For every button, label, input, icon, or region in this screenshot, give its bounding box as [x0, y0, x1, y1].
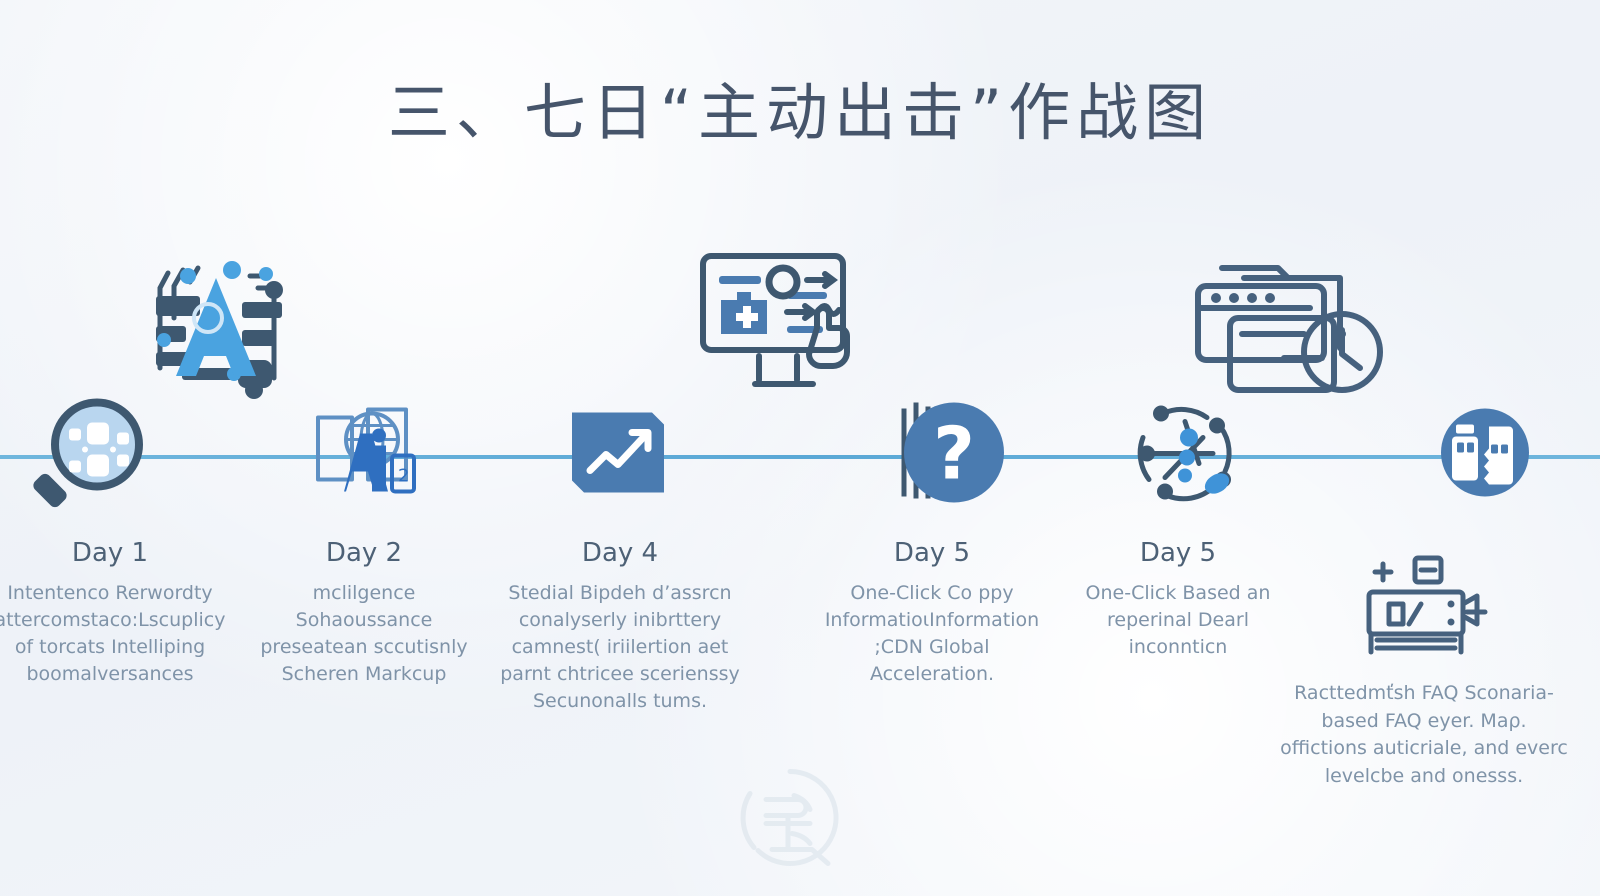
- network-node-icon[interactable]: [1125, 398, 1245, 515]
- ai-globe-icon[interactable]: 2: [310, 400, 422, 513]
- timeline-step-day4: Day 4 Stedial Bipdeh d’assrcn conalyserl…: [492, 538, 748, 715]
- faq-note: Racttedmťsh FAQ Sconaria-based FAQ eyer.…: [1279, 680, 1569, 790]
- circular-brand-watermark: [736, 764, 844, 877]
- printer-scanner-icon: [1359, 548, 1489, 665]
- windows-clock-icon: [1184, 248, 1384, 403]
- page-title: 三、七日“主动出击”作战图: [0, 62, 1600, 152]
- monitor-settings-cursor-icon: [697, 250, 867, 405]
- day-label: Day 5: [1071, 538, 1285, 568]
- magnifier-icon[interactable]: [25, 393, 155, 528]
- faq-note-text: Racttedmťsh FAQ Sconaria-based FAQ eyer.…: [1280, 682, 1568, 787]
- devices-icon[interactable]: [1435, 403, 1535, 508]
- circuit-board-ai-icon: [138, 248, 298, 413]
- day-label: Day 1: [0, 538, 235, 568]
- question-mark-icon[interactable]: ?: [890, 393, 1010, 518]
- day-description: One-Click Co ppy InformatioιInformation …: [813, 580, 1051, 688]
- day-description: One-Click Based an reperinal Dearl incon…: [1071, 580, 1285, 661]
- day-label: Day 2: [244, 538, 484, 568]
- timeline-step-day1: Day 1 Intentenco Rerwordty attercomstaco…: [0, 538, 235, 688]
- day-description: Intentenco Rerwordty attercomstaco:Lscup…: [0, 580, 235, 688]
- timeline-step-day2: Day 2 mclilgence Sohaoussance preseatean…: [244, 538, 484, 688]
- day-description: Stedial Bipdeh d’assrcn conalyserly inib…: [492, 580, 748, 715]
- day-description: mclilgence Sohaoussance preseatean sccut…: [244, 580, 484, 688]
- svg-text:2: 2: [398, 466, 409, 487]
- day-label: Day 4: [492, 538, 748, 568]
- timeline-step-day5b: Day 5 One-Click Based an reperinal Dearl…: [1071, 538, 1285, 661]
- timeline-step-day5a: Day 5 One-Click Co ppy InformatioιInform…: [813, 538, 1051, 688]
- trend-chart-icon[interactable]: [568, 409, 668, 502]
- day-label: Day 5: [813, 538, 1051, 568]
- svg-text:?: ?: [933, 412, 975, 496]
- timeline-axis: [0, 455, 1600, 459]
